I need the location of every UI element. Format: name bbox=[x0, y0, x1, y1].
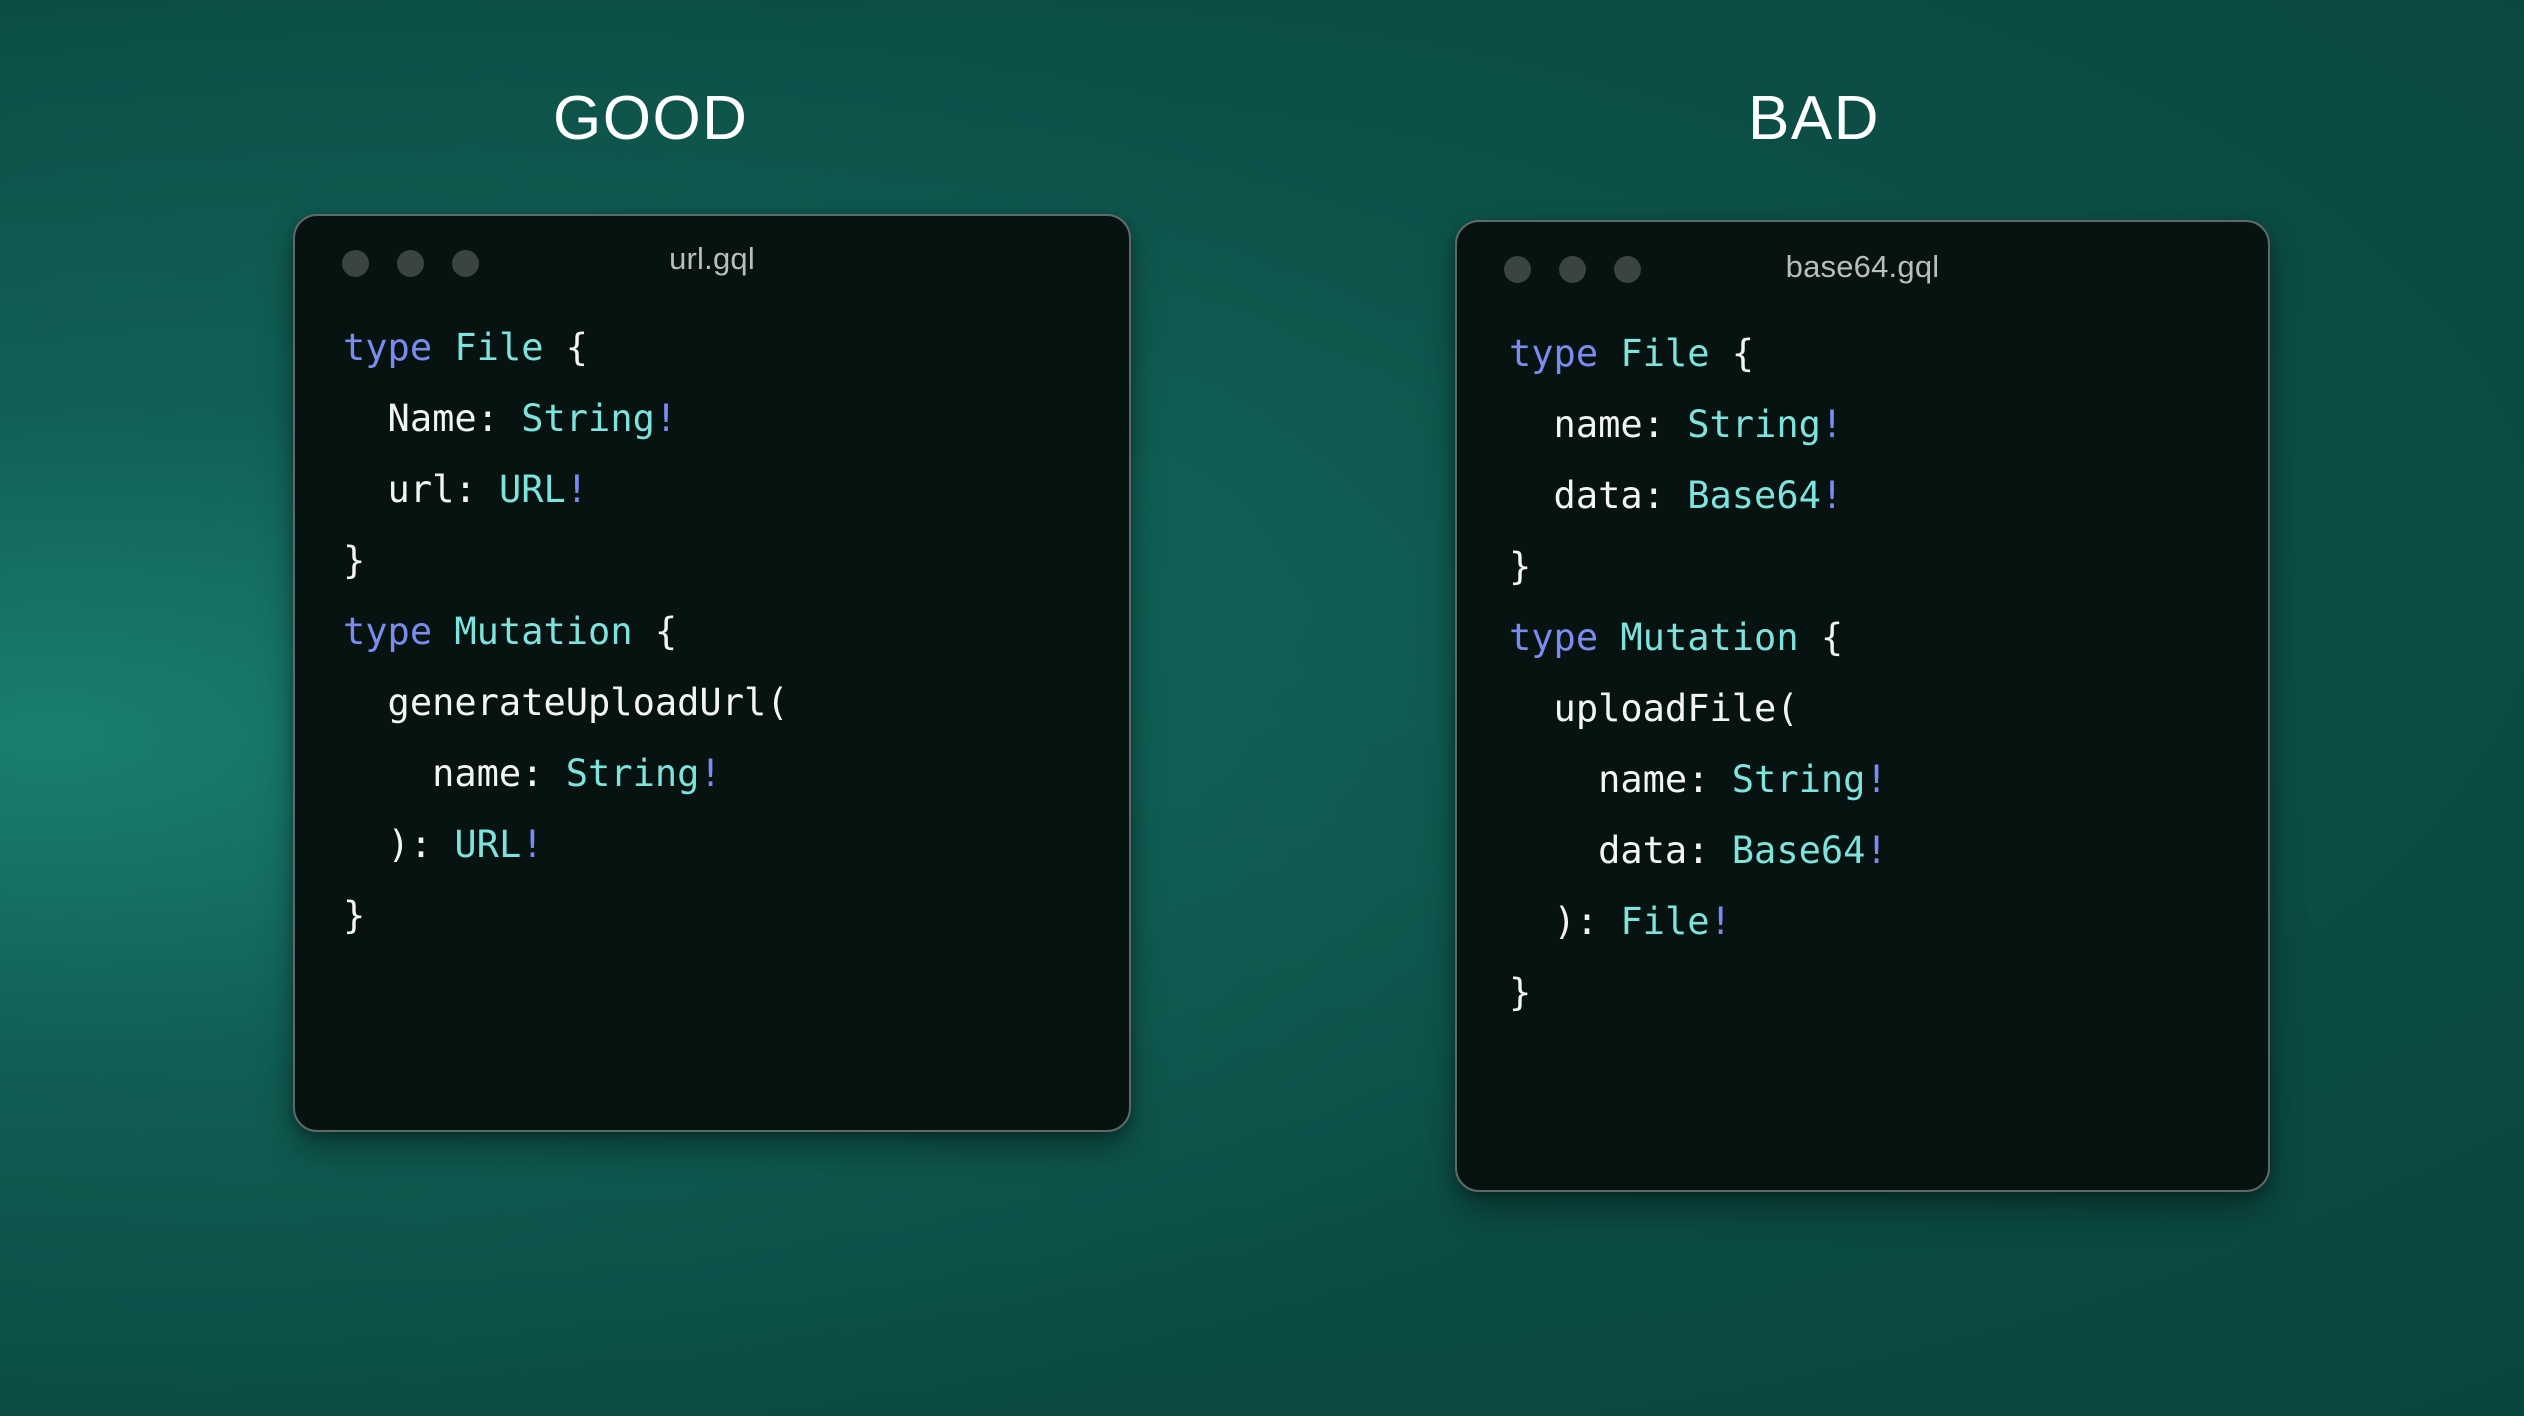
code-token: Mutation bbox=[454, 610, 632, 653]
code-token: ! bbox=[655, 397, 677, 440]
titlebar-bad: base64.gql bbox=[1457, 222, 2268, 318]
code-token: data: bbox=[1509, 474, 1687, 517]
code-token: ): bbox=[343, 823, 454, 866]
code-token: File bbox=[454, 326, 543, 369]
code-line: } bbox=[343, 525, 1129, 596]
code-token: File bbox=[1620, 332, 1709, 375]
code-token: Base64 bbox=[1687, 474, 1821, 517]
code-line: url: URL! bbox=[343, 454, 1129, 525]
code-line: } bbox=[343, 880, 1129, 951]
code-token: type bbox=[1509, 616, 1598, 659]
code-token: Base64 bbox=[1732, 829, 1866, 872]
code-token: Name: bbox=[343, 397, 521, 440]
code-token: ! bbox=[1865, 829, 1887, 872]
code-token: ! bbox=[566, 468, 588, 511]
code-token: type bbox=[343, 610, 432, 653]
code-token: { bbox=[1799, 616, 1844, 659]
code-token bbox=[1598, 332, 1620, 375]
code-line: name: String! bbox=[343, 738, 1129, 809]
code-line: name: String! bbox=[1509, 744, 2268, 815]
code-token: String bbox=[1732, 758, 1866, 801]
code-token: { bbox=[1710, 332, 1755, 375]
titlebar-good: url.gql bbox=[295, 216, 1129, 312]
code-line: type File { bbox=[343, 312, 1129, 383]
code-line: generateUploadUrl( bbox=[343, 667, 1129, 738]
code-token: ! bbox=[1865, 758, 1887, 801]
bad-heading: BAD bbox=[1748, 88, 1880, 150]
code-line: name: String! bbox=[1509, 389, 2268, 460]
code-token: { bbox=[544, 326, 589, 369]
code-window-bad: base64.gql type File { name: String! dat… bbox=[1455, 220, 2270, 1192]
code-token: type bbox=[343, 326, 432, 369]
code-token: ! bbox=[521, 823, 543, 866]
code-token: ! bbox=[1821, 403, 1843, 446]
filename-label-good: url.gql bbox=[295, 241, 1129, 277]
code-token bbox=[432, 326, 454, 369]
code-line: } bbox=[1509, 531, 2268, 602]
code-token: } bbox=[1509, 971, 1531, 1014]
code-line: type File { bbox=[1509, 318, 2268, 389]
code-token: name: bbox=[343, 752, 566, 795]
code-line: data: Base64! bbox=[1509, 460, 2268, 531]
code-block-bad: type File { name: String! data: Base64!}… bbox=[1457, 318, 2268, 1028]
code-token: } bbox=[343, 894, 365, 937]
code-token: String bbox=[1687, 403, 1821, 446]
code-line: data: Base64! bbox=[1509, 815, 2268, 886]
code-token: { bbox=[633, 610, 678, 653]
code-token: name: bbox=[1509, 758, 1732, 801]
code-token: URL bbox=[499, 468, 566, 511]
code-token: } bbox=[343, 539, 365, 582]
code-token: url: bbox=[343, 468, 499, 511]
code-token: String bbox=[521, 397, 655, 440]
good-heading: GOOD bbox=[553, 88, 748, 150]
code-block-good: type File { Name: String! url: URL!}type… bbox=[295, 312, 1129, 951]
code-token: data: bbox=[1509, 829, 1732, 872]
code-line: Name: String! bbox=[343, 383, 1129, 454]
code-token: ! bbox=[1710, 900, 1732, 943]
code-token: ): bbox=[1509, 900, 1620, 943]
code-line: uploadFile( bbox=[1509, 673, 2268, 744]
code-window-good: url.gql type File { Name: String! url: U… bbox=[293, 214, 1131, 1132]
comparison-stage: GOOD BAD url.gql type File { Name: Strin… bbox=[0, 0, 2524, 1416]
code-token: URL bbox=[454, 823, 521, 866]
code-token: String bbox=[566, 752, 700, 795]
code-line: type Mutation { bbox=[343, 596, 1129, 667]
code-token: uploadFile( bbox=[1509, 687, 1799, 730]
code-line: ): File! bbox=[1509, 886, 2268, 957]
code-line: ): URL! bbox=[343, 809, 1129, 880]
code-token: File bbox=[1620, 900, 1709, 943]
code-token: generateUploadUrl( bbox=[343, 681, 789, 724]
code-token: } bbox=[1509, 545, 1531, 588]
code-line: type Mutation { bbox=[1509, 602, 2268, 673]
code-token: name: bbox=[1509, 403, 1687, 446]
code-token: Mutation bbox=[1620, 616, 1798, 659]
code-token bbox=[1598, 616, 1620, 659]
code-token: ! bbox=[699, 752, 721, 795]
code-token: ! bbox=[1821, 474, 1843, 517]
code-token bbox=[432, 610, 454, 653]
filename-label-bad: base64.gql bbox=[1457, 249, 2268, 285]
code-line: } bbox=[1509, 957, 2268, 1028]
code-token: type bbox=[1509, 332, 1598, 375]
